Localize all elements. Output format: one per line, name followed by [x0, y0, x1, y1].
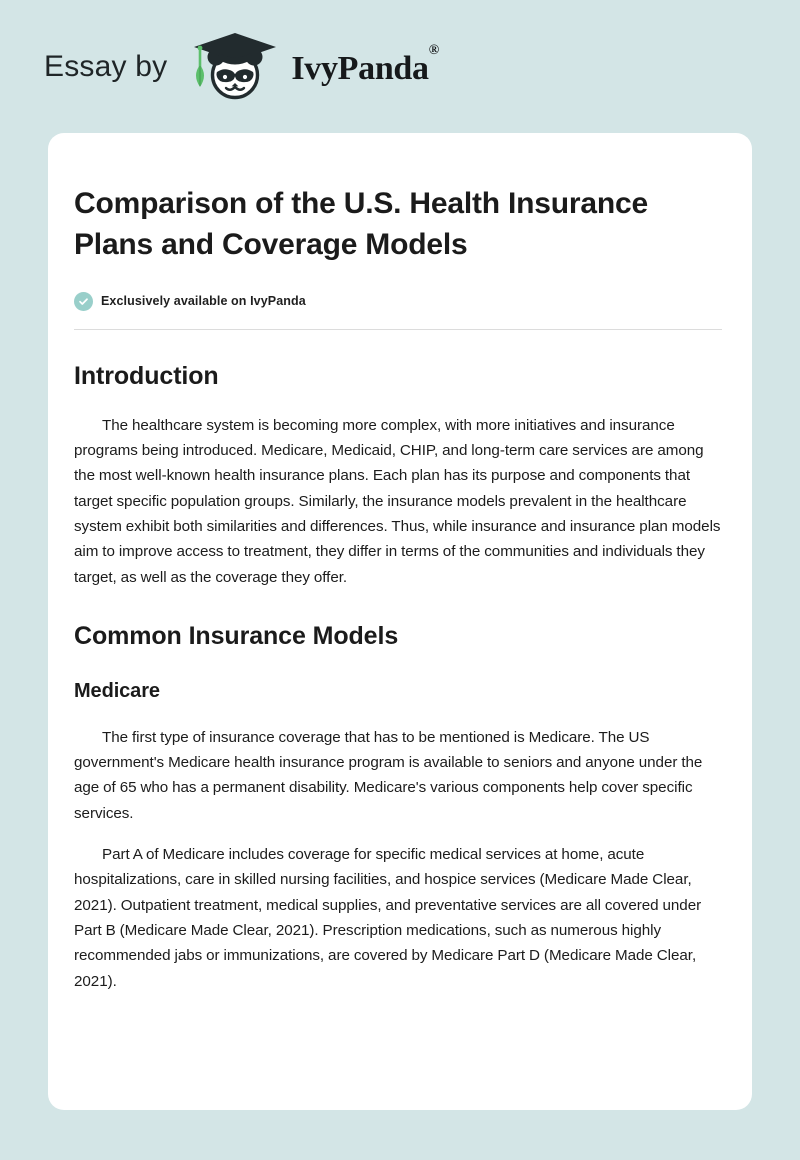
section-heading-introduction: Introduction	[74, 361, 722, 391]
paragraph: The healthcare system is becoming more c…	[74, 413, 722, 590]
brand-header: Essay by	[0, 0, 800, 133]
document-card: Comparison of the U.S. Health Insurance …	[48, 133, 752, 1110]
subsection-heading-medicare: Medicare	[74, 679, 722, 703]
trademark-symbol: ®	[429, 43, 439, 58]
ivypanda-logo[interactable]: IvyPanda®	[185, 32, 439, 102]
exclusive-badge-label: Exclusively available on IvyPanda	[101, 294, 306, 308]
panda-graduate-icon	[185, 32, 285, 102]
paragraph: The first type of insurance coverage tha…	[74, 725, 722, 826]
page-title: Comparison of the U.S. Health Insurance …	[74, 183, 722, 266]
check-circle-icon	[74, 292, 93, 311]
header-divider	[74, 329, 722, 330]
section-heading-common-insurance-models: Common Insurance Models	[74, 621, 722, 651]
exclusive-availability-badge: Exclusively available on IvyPanda	[74, 292, 722, 311]
paragraph: Part A of Medicare includes coverage for…	[74, 842, 722, 994]
document-body: Comparison of the U.S. Health Insurance …	[74, 183, 722, 994]
brand-wordmark: IvyPanda®	[291, 52, 439, 86]
brand-name-text: IvyPanda	[291, 50, 428, 87]
essay-by-label: Essay by	[44, 52, 167, 82]
